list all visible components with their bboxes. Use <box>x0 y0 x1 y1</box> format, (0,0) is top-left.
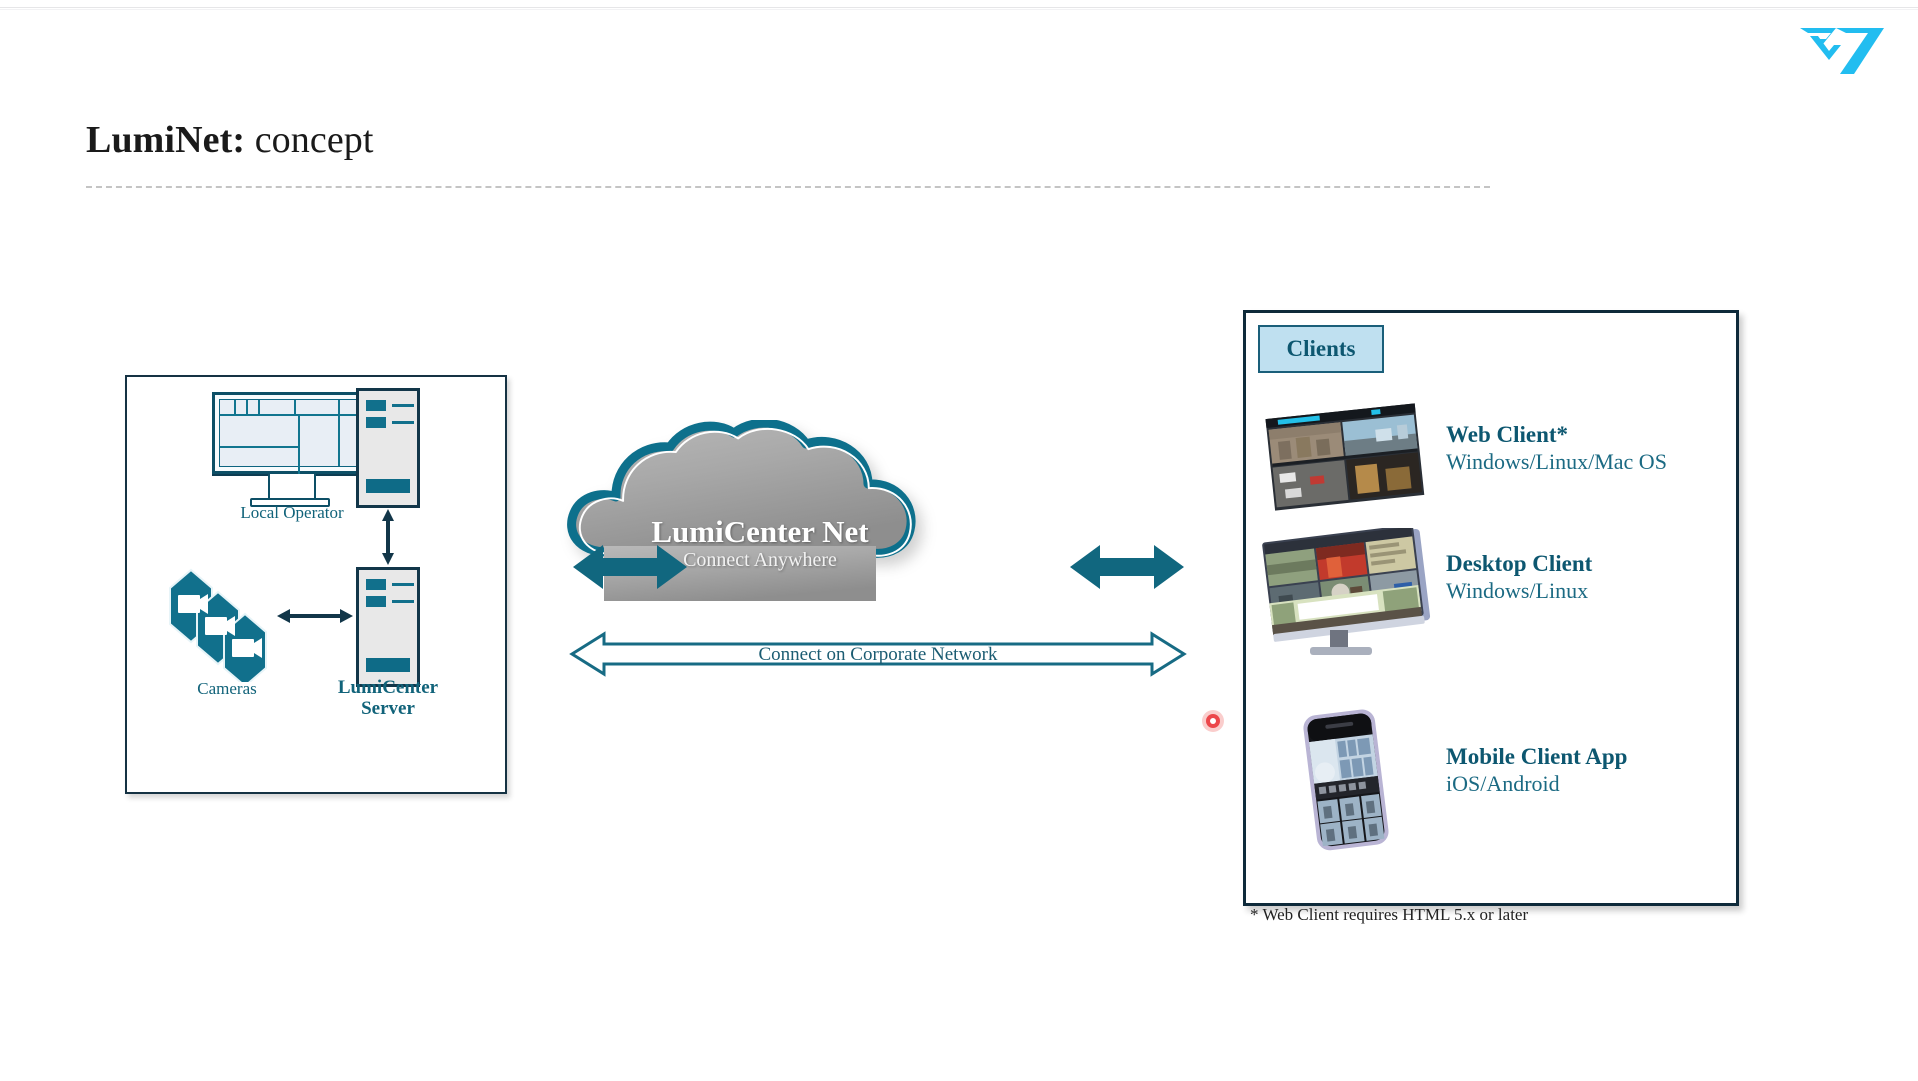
clients-badge: Clients <box>1258 325 1384 373</box>
client-item-desktop[interactable]: Desktop Client Windows/Linux <box>1246 528 1736 663</box>
operator-monitor-icon <box>212 392 367 492</box>
web-client-os: Windows/Linux/Mac OS <box>1446 449 1726 476</box>
camera-to-server-arrow <box>277 607 353 625</box>
lumicenter-server-label: LumiCenter Server <box>313 677 463 720</box>
cloud-left-arrow <box>573 541 687 593</box>
mobile-client-text: Mobile Client App iOS/Android <box>1446 743 1726 797</box>
lumicenter-server-label-line1: LumiCenter <box>338 677 438 698</box>
corporate-network-arrow <box>568 630 1188 678</box>
page-title-light: concept <box>245 119 373 161</box>
desktop-client-text: Desktop Client Windows/Linux <box>1446 550 1726 604</box>
brand-logo-icon <box>1796 18 1888 80</box>
web-client-name: Web Client* <box>1446 421 1726 449</box>
desktop-client-name: Desktop Client <box>1446 550 1726 578</box>
monitor-screen <box>219 399 360 467</box>
cameras-icon <box>165 562 290 682</box>
page-title-strong: LumiNet: <box>86 119 245 161</box>
title-underline-dashed <box>86 186 1490 188</box>
monitor-bezel <box>212 392 367 474</box>
server-unit-bottom <box>356 567 420 687</box>
cloud-right-arrow <box>1070 541 1184 593</box>
client-item-mobile[interactable]: Mobile Client App iOS/Android <box>1246 708 1736 853</box>
mobile-client-os: iOS/Android <box>1446 771 1726 798</box>
server-link-arrow-vertical <box>380 509 396 565</box>
server-unit-top <box>356 388 420 508</box>
desktop-client-os: Windows/Linux <box>1446 578 1726 605</box>
local-site-panel: Local Operator Cameras <box>125 375 507 794</box>
cameras-label: Cameras <box>137 679 317 699</box>
mouse-cursor-indicator <box>1201 709 1225 733</box>
clients-panel: Clients <box>1243 310 1739 906</box>
top-divider-line <box>0 7 1918 8</box>
mobile-phone-thumbnail-icon <box>1258 708 1433 838</box>
page-title: LumiNet: concept <box>86 118 374 162</box>
top-divider-line-secondary <box>0 9 1918 10</box>
mobile-client-name: Mobile Client App <box>1446 743 1726 771</box>
lumicenter-server-label-line2: Server <box>361 698 415 719</box>
desktop-monitor-thumbnail-icon <box>1258 528 1433 658</box>
slide-canvas: LumiNet: concept Local Operator <box>0 0 1918 1081</box>
clients-footnote: * Web Client requires HTML 5.x or later <box>1250 905 1528 925</box>
client-item-web[interactable]: Web Client* Windows/Linux/Mac OS <box>1246 393 1736 513</box>
monitor-stand-neck <box>268 474 316 500</box>
web-client-text: Web Client* Windows/Linux/Mac OS <box>1446 421 1726 475</box>
web-client-video-wall-thumbnail-icon <box>1258 393 1433 523</box>
